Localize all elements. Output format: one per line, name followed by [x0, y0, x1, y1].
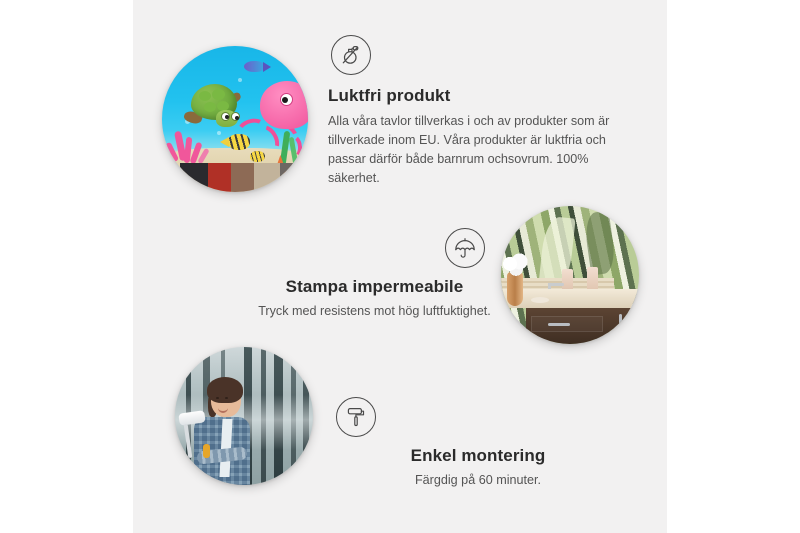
feature-odour-free: Luktfri produkt Alla våra tavlor tillver…: [328, 35, 628, 189]
content-panel: Luktfri produkt Alla våra tavlor tillver…: [133, 0, 667, 533]
feature-title: Enkel montering: [328, 446, 628, 466]
icon-wrap: [328, 397, 628, 437]
yellow-striped-fish: [250, 151, 265, 162]
umbrella-icon: [445, 228, 485, 268]
feature-waterproof-print: Stampa impermeabile Tryck med resistens …: [208, 228, 541, 321]
blue-fish: [244, 61, 264, 72]
product-feature-infographic: Luktfri produkt Alla våra tavlor tillver…: [0, 0, 800, 533]
person-hair: [207, 377, 243, 403]
paint-roller-icon: [336, 397, 376, 437]
no-perfume-bottle-icon: [331, 35, 371, 75]
bubble-icon: [238, 78, 242, 82]
drawer-handle: [548, 323, 570, 326]
feature-body: Färgdig på 60 minuter.: [328, 471, 628, 490]
cabinet-handle: [619, 314, 622, 340]
faucet: [548, 283, 564, 286]
feature-title: Luktfri produkt: [328, 86, 628, 106]
ocean-scene: [162, 46, 308, 192]
feature-body: Alla våra tavlor tillverkas i och av pro…: [328, 112, 620, 189]
icon-wrap: [328, 35, 628, 75]
yellow-striped-fish: [228, 134, 250, 150]
roller-grip: [203, 444, 210, 458]
icon-wrap: [208, 228, 541, 268]
woman-paint-roller-forest-circle-image: [175, 347, 313, 485]
feature-title: Stampa impermeabile: [208, 277, 541, 297]
feature-easy-mounting: Enkel montering Färgdig på 60 minuter.: [328, 397, 628, 490]
room-photo-strip: [180, 163, 308, 192]
underwater-cartoon-circle-image: [162, 46, 308, 192]
forest-scene: [175, 347, 313, 485]
feature-body: Tryck med resistens mot hög luftfuktighe…: [208, 302, 541, 321]
